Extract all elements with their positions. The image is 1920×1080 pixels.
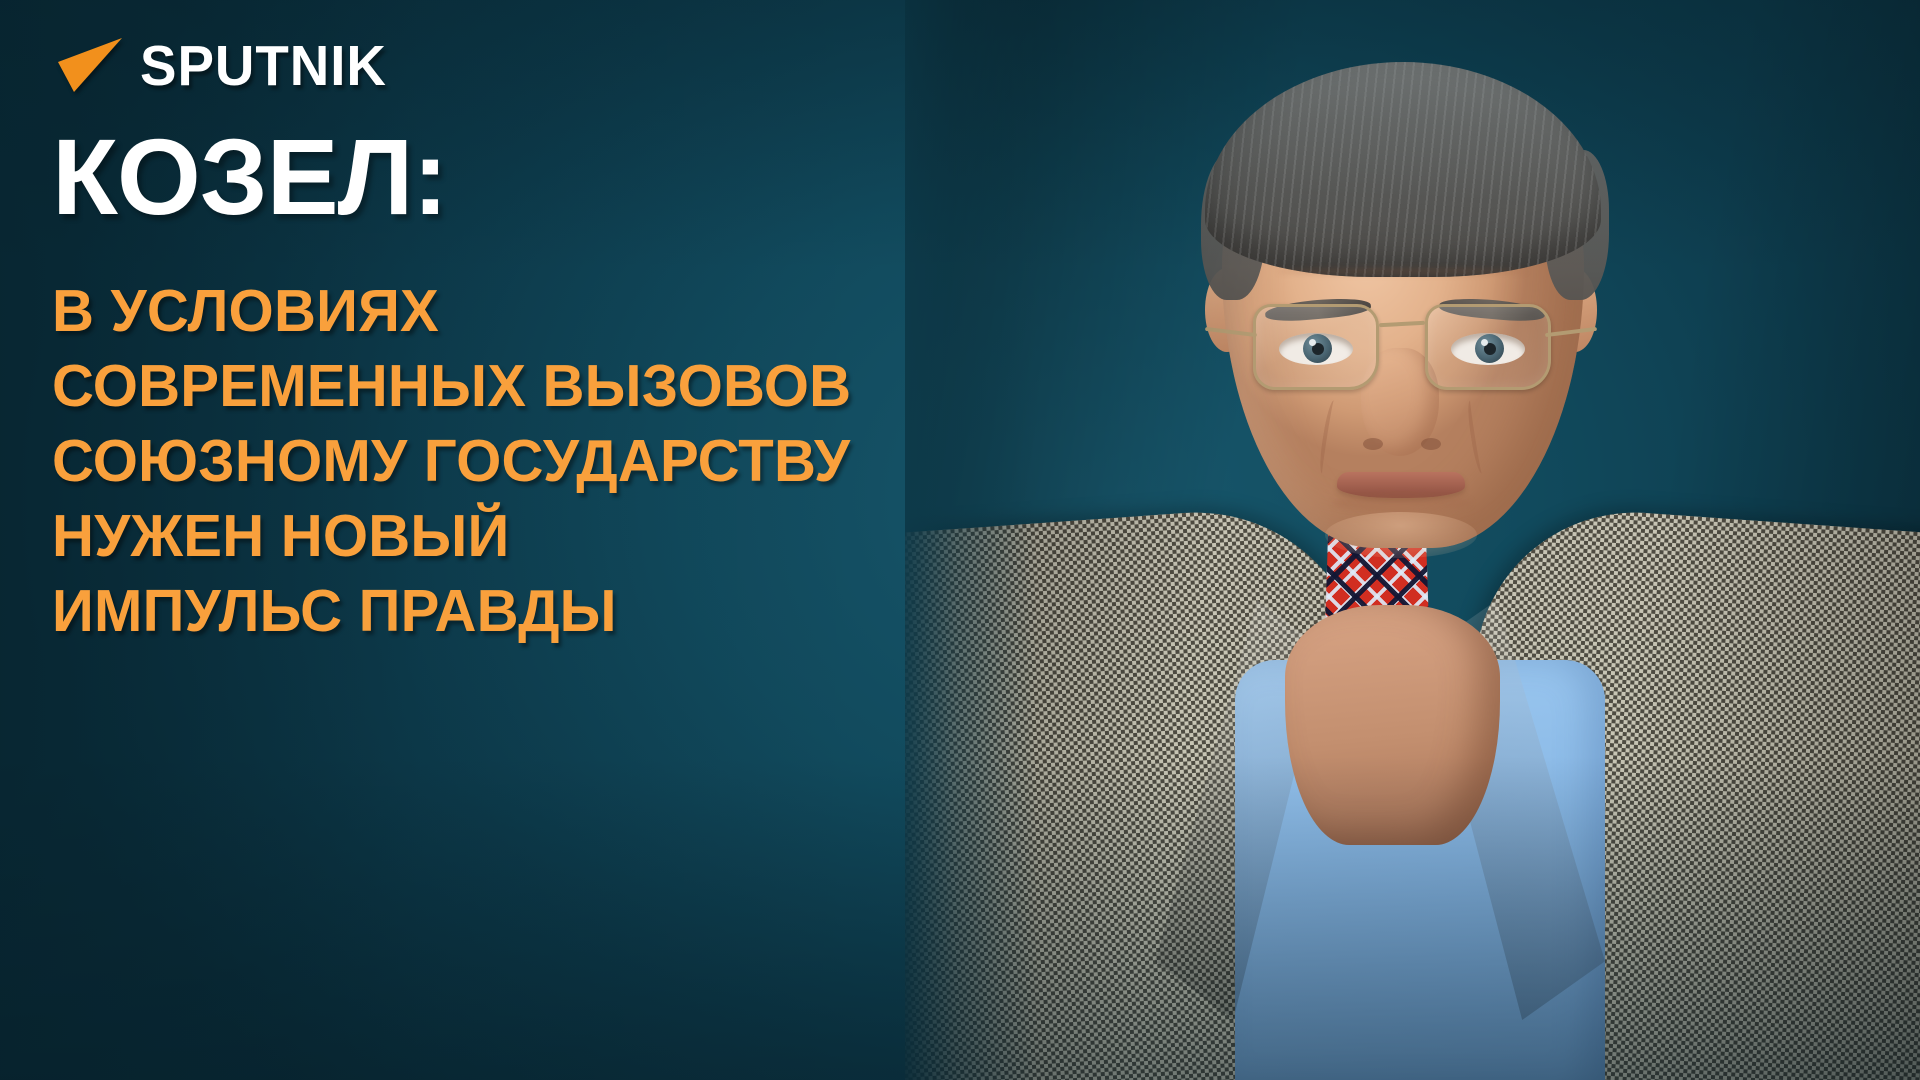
sputnik-wordmark: SPUTNIK — [140, 38, 387, 95]
quote-lines: В УСЛОВИЯХ СОВРЕМЕННЫХ ВЫЗОВОВ СОЮЗНОМУ … — [52, 274, 1062, 649]
sputnik-quote-card: SPUTNIK КОЗЕЛ: В УСЛОВИЯХ СОВРЕМЕННЫХ ВЫ… — [0, 0, 1920, 1080]
speaker-name: КОЗЕЛ: — [52, 122, 1062, 232]
quote-line-5: ИМПУЛЬС ПРАВДЫ — [52, 574, 1047, 649]
sputnik-arrow-icon — [48, 36, 126, 96]
quote-block: КОЗЕЛ: В УСЛОВИЯХ СОВРЕМЕННЫХ ВЫЗОВОВ СО… — [52, 122, 1062, 649]
quote-line-1: В УСЛОВИЯХ — [52, 274, 1047, 349]
quote-line-3: СОЮЗНОМУ ГОСУДАРСТВУ — [52, 424, 1047, 499]
sputnik-logo[interactable]: SPUTNIK — [48, 30, 397, 102]
quote-line-2: СОВРЕМЕННЫХ ВЫЗОВОВ — [52, 349, 1047, 424]
quote-line-4: НУЖЕН НОВЫЙ — [52, 499, 1047, 574]
